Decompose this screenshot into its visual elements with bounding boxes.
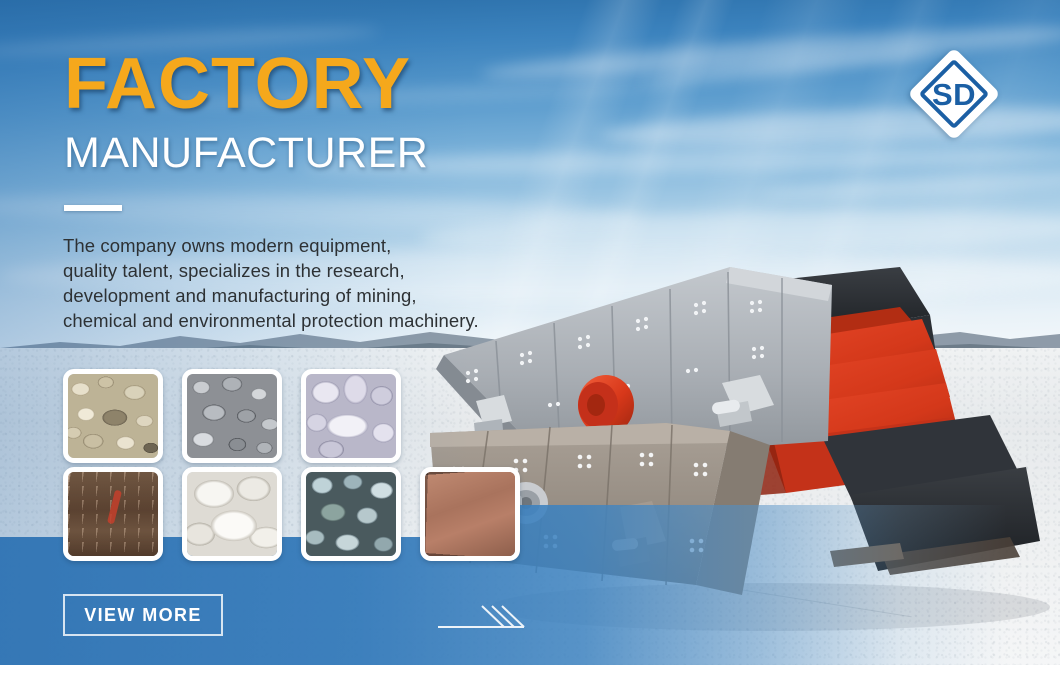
white-quartz-thumbnail[interactable] — [182, 467, 282, 561]
logo-text: SD — [932, 79, 976, 110]
description-line: chemical and environmental protection ma… — [63, 308, 543, 333]
brown-layered-rock-thumbnail[interactable] — [63, 467, 163, 561]
texture-fill — [425, 472, 515, 556]
texture-fill — [306, 472, 396, 556]
page-subtitle: MANUFACTURER — [64, 132, 428, 175]
description-line: The company owns modern equipment, — [63, 233, 543, 258]
product-banner: FACTORY MANUFACTURER The company owns mo… — [0, 0, 1060, 685]
triple-chevron-arrow-icon — [438, 598, 548, 638]
river-pebbles-thumbnail[interactable] — [63, 369, 163, 463]
headline-block: FACTORY MANUFACTURER — [64, 48, 428, 211]
blue-gray-pebbles-thumbnail[interactable] — [301, 467, 401, 561]
material-thumbnail-gallery — [63, 369, 533, 561]
texture-fill — [306, 374, 396, 458]
red-sandstone-thumbnail[interactable] — [420, 467, 520, 561]
thumbnail-row — [63, 467, 533, 561]
texture-fill — [68, 472, 158, 556]
company-logo[interactable]: SD — [908, 48, 1000, 140]
lavender-stones-thumbnail[interactable] — [301, 369, 401, 463]
page-title: FACTORY — [64, 48, 428, 120]
description-line: quality talent, specializes in the resea… — [63, 258, 543, 283]
texture-fill — [187, 374, 277, 458]
cloud-streak-icon — [760, 169, 1060, 203]
thumbnail-row — [63, 369, 533, 463]
title-divider — [64, 205, 122, 211]
texture-fill — [187, 472, 277, 556]
texture-fill — [68, 374, 158, 458]
bottom-white-strip — [0, 665, 1060, 685]
company-description: The company owns modern equipment, quali… — [63, 233, 543, 333]
gray-gravel-thumbnail[interactable] — [182, 369, 282, 463]
view-more-button[interactable]: VIEW MORE — [63, 594, 223, 636]
description-line: development and manufacturing of mining, — [63, 283, 543, 308]
